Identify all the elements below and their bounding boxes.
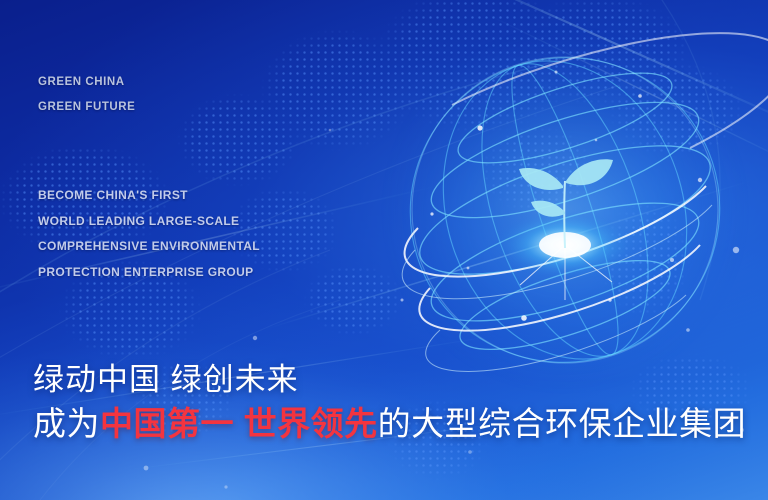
hero-banner: GREEN CHINA GREEN FUTURE BECOME CHINA'S …: [0, 0, 768, 500]
tagline-line-2: GREEN FUTURE: [38, 95, 135, 120]
tagline-line-1: GREEN CHINA: [38, 70, 135, 95]
mission-line-3: COMPREHENSIVE ENVIRONMENTAL: [38, 234, 260, 260]
subline-prefix: 成为: [33, 405, 100, 442]
subline-highlight: 中国第一 世界领先: [100, 405, 378, 442]
headline-chinese: 绿动中国 绿创未来: [33, 364, 299, 395]
subline-chinese: 成为中国第一 世界领先的大型综合环保企业集团: [33, 407, 746, 440]
mission-line-2: WORLD LEADING LARGE-SCALE: [38, 209, 260, 235]
mission-line-4: PROTECTION ENTERPRISE GROUP: [38, 260, 260, 286]
mission-block: BECOME CHINA'S FIRST WORLD LEADING LARGE…: [38, 183, 260, 285]
tagline-block: GREEN CHINA GREEN FUTURE: [38, 70, 135, 120]
mission-line-1: BECOME CHINA'S FIRST: [38, 183, 260, 209]
subline-suffix: 的大型综合环保企业集团: [378, 405, 747, 442]
